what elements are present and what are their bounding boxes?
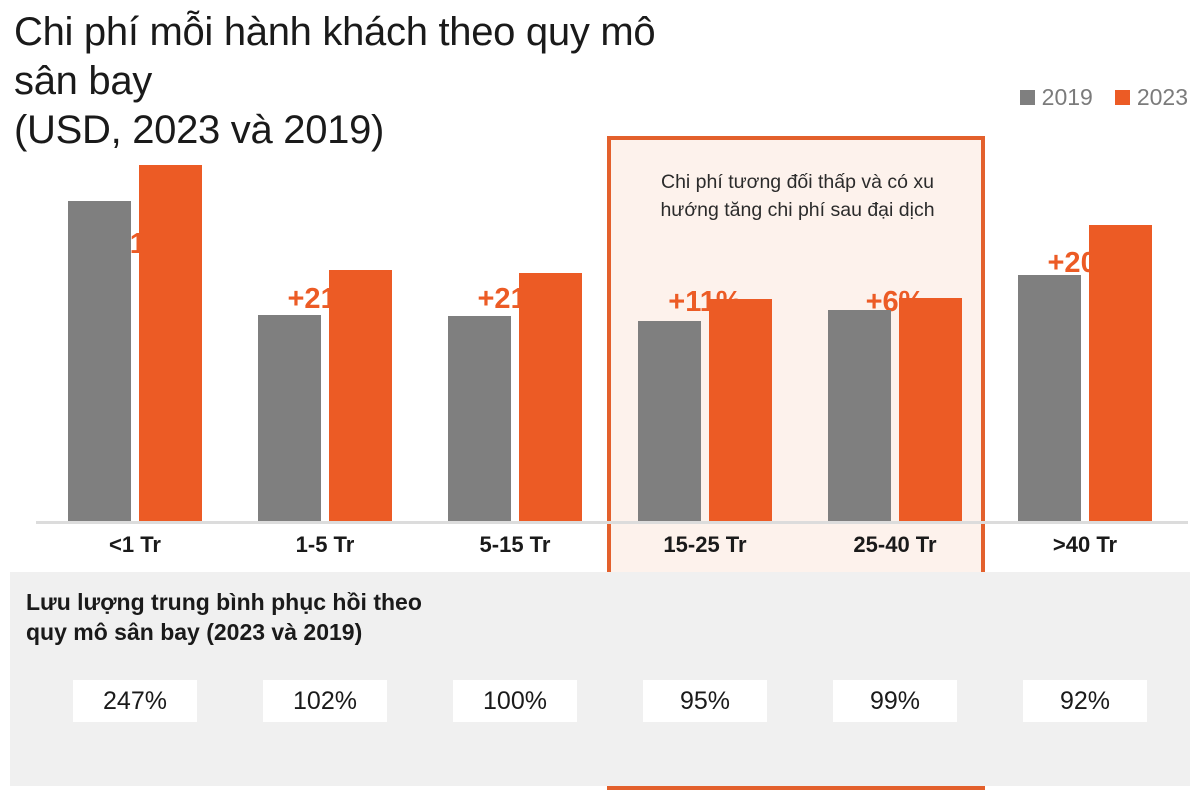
bar-group-4: +6% 13.7 14.5: [796, 120, 994, 521]
bar-2019-0[interactable]: [68, 201, 131, 521]
category-label-3: 15-25 Tr: [606, 532, 804, 558]
bar-group-5: +20% 16.0 19.2: [986, 120, 1184, 521]
bar-2023-3[interactable]: [709, 299, 772, 521]
bar-2019-1[interactable]: [258, 315, 321, 521]
bar-chart-plot-area: +11% 20.8 23.1 +21% 13.4 16.3 +21% 13.3 …: [0, 120, 1200, 525]
bar-2019-5[interactable]: [1018, 275, 1081, 521]
bar-2019-4[interactable]: [828, 310, 891, 521]
chart-legend: 2019 2023: [1020, 84, 1188, 111]
category-label-0: <1 Tr: [36, 532, 234, 558]
bar-2023-5[interactable]: [1089, 225, 1152, 521]
legend-label-2023: 2023: [1137, 84, 1188, 111]
recovery-value-0: 247%: [73, 680, 197, 722]
bar-2019-3[interactable]: [638, 321, 701, 521]
recovery-value-3: 95%: [643, 680, 767, 722]
category-label-4: 25-40 Tr: [796, 532, 994, 558]
bar-pair-4: [796, 120, 994, 521]
recovery-panel-title-line-1: Lưu lượng trung bình phục hồi theo: [26, 587, 586, 617]
bar-2023-2[interactable]: [519, 273, 582, 521]
bar-pair-5: [986, 120, 1184, 521]
bar-2023-0[interactable]: [139, 165, 202, 521]
recovery-value-5: 92%: [1023, 680, 1147, 722]
legend-swatch-2019: [1020, 90, 1035, 105]
recovery-value-4: 99%: [833, 680, 957, 722]
category-label-2: 5-15 Tr: [416, 532, 614, 558]
bar-pair-0: [36, 120, 234, 521]
bar-pair-1: [226, 120, 424, 521]
bar-2023-1[interactable]: [329, 270, 392, 521]
bar-2019-2[interactable]: [448, 316, 511, 521]
legend-item-2023[interactable]: 2023: [1115, 84, 1188, 111]
recovery-value-1: 102%: [263, 680, 387, 722]
bar-2023-4[interactable]: [899, 298, 962, 521]
legend-swatch-2023: [1115, 90, 1130, 105]
category-label-5: >40 Tr: [986, 532, 1184, 558]
legend-item-2019[interactable]: 2019: [1020, 84, 1093, 111]
bar-group-3: +11% 13.0 14.4: [606, 120, 804, 521]
legend-label-2019: 2019: [1042, 84, 1093, 111]
bar-group-2: +21% 13.3 16.1: [416, 120, 614, 521]
page-title-line-1: Chi phí mỗi hành khách theo quy mô sân b…: [14, 8, 714, 106]
bar-group-0: +11% 20.8 23.1: [36, 120, 234, 521]
bar-group-1: +21% 13.4 16.3: [226, 120, 424, 521]
bar-pair-3: [606, 120, 804, 521]
x-axis-line: [36, 521, 1188, 524]
bar-pair-2: [416, 120, 614, 521]
recovery-panel-title: Lưu lượng trung bình phục hồi theo quy m…: [26, 587, 586, 648]
category-label-1: 1-5 Tr: [226, 532, 424, 558]
recovery-panel-title-line-2: quy mô sân bay (2023 và 2019): [26, 617, 586, 647]
recovery-value-2: 100%: [453, 680, 577, 722]
